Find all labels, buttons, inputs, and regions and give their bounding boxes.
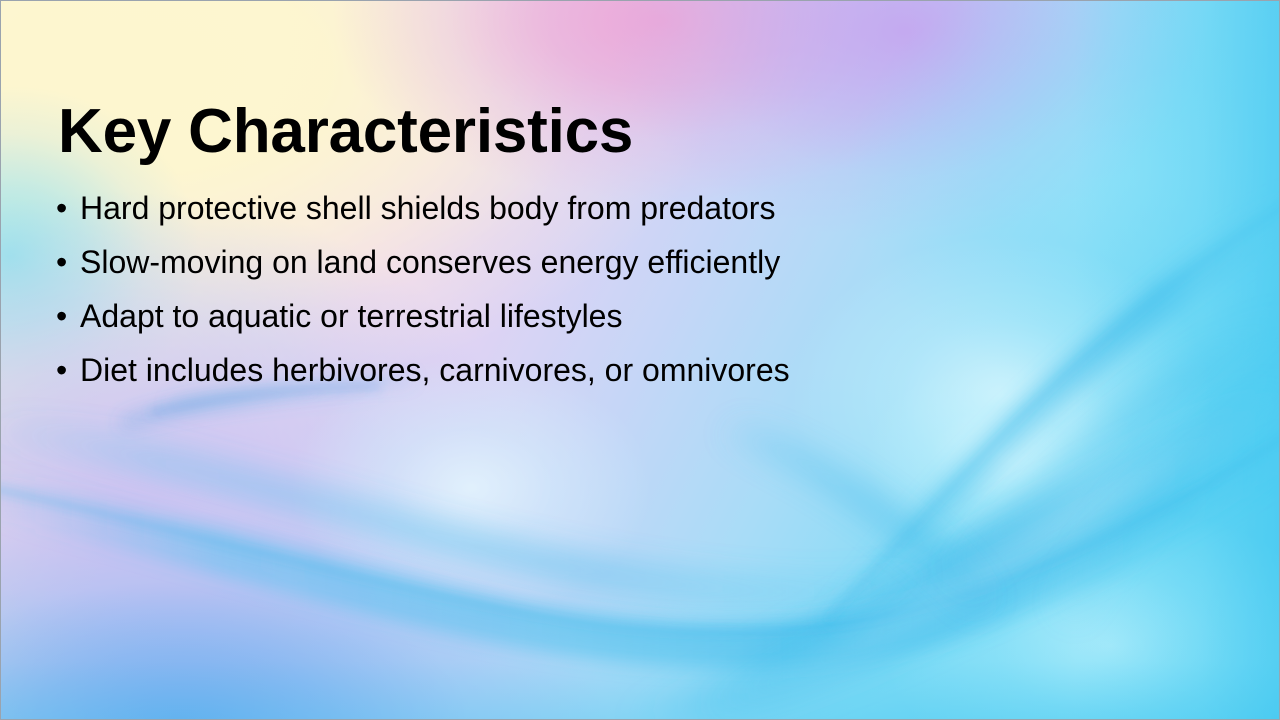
bullet-text: Slow-moving on land conserves energy eff…: [80, 241, 780, 283]
bullet-marker-icon: •: [56, 349, 80, 391]
slide-canvas: Key Characteristics • Hard protective sh…: [0, 0, 1280, 720]
page-title: Key Characteristics: [58, 101, 633, 163]
bullet-item-4: • Diet includes herbivores, carnivores, …: [56, 349, 790, 403]
bullet-item-2: • Slow-moving on land conserves energy e…: [56, 241, 790, 295]
slide-content: Key Characteristics • Hard protective sh…: [1, 1, 1279, 719]
bullet-marker-icon: •: [56, 241, 80, 283]
bullet-list: • Hard protective shell shields body fro…: [56, 187, 790, 403]
bullet-text: Hard protective shell shields body from …: [80, 187, 775, 229]
bullet-marker-icon: •: [56, 295, 80, 337]
bullet-item-3: • Adapt to aquatic or terrestrial lifest…: [56, 295, 790, 349]
bullet-text: Adapt to aquatic or terrestrial lifestyl…: [80, 295, 622, 337]
bullet-marker-icon: •: [56, 187, 80, 229]
bullet-item-1: • Hard protective shell shields body fro…: [56, 187, 790, 241]
bullet-text: Diet includes herbivores, carnivores, or…: [80, 349, 790, 391]
